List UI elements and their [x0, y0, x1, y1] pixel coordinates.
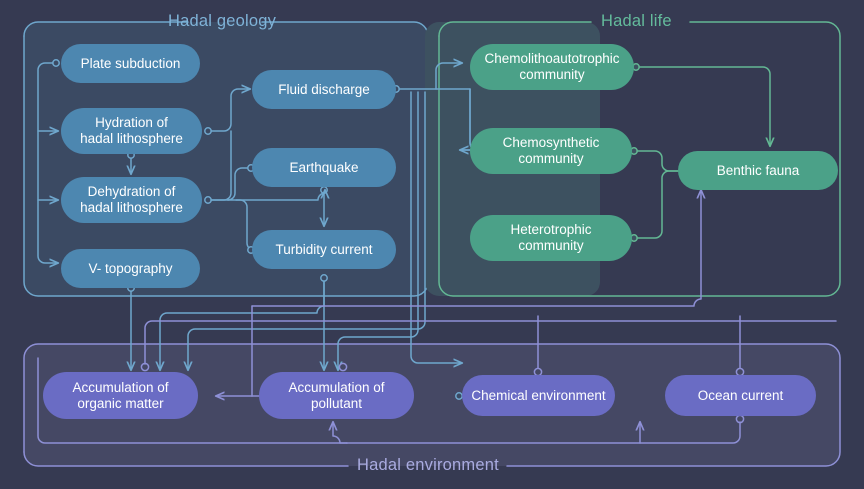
- node-label: Ocean current: [698, 388, 784, 404]
- panel-title-environment: Hadal environment: [357, 456, 499, 475]
- node-label: Dehydration ofhadal lithosphere: [80, 184, 183, 215]
- node-label: Turbidity current: [275, 242, 372, 258]
- panel-title-geology: Hadal geology: [168, 12, 276, 31]
- node-label: Chemical environment: [471, 388, 605, 404]
- node-chemosynthetic[interactable]: Chemosyntheticcommunity: [470, 128, 632, 174]
- node-label: Heterotrophiccommunity: [510, 222, 591, 253]
- node-label: Accumulation ofpollutant: [288, 380, 384, 411]
- node-dehydration[interactable]: Dehydration ofhadal lithosphere: [61, 177, 202, 223]
- node-plate-subduction[interactable]: Plate subduction: [61, 44, 200, 83]
- node-chemolithoautotrophic[interactable]: Chemolithoautotrophiccommunity: [470, 44, 634, 90]
- node-label: Chemolithoautotrophiccommunity: [484, 51, 619, 82]
- node-organic-matter[interactable]: Accumulation oforganic matter: [43, 372, 198, 419]
- node-label: Accumulation oforganic matter: [72, 380, 168, 411]
- node-heterotrophic[interactable]: Heterotrophiccommunity: [470, 215, 632, 261]
- node-ocean-current[interactable]: Ocean current: [665, 375, 816, 416]
- node-hydration[interactable]: Hydration ofhadal lithosphere: [61, 108, 202, 154]
- node-earthquake[interactable]: Earthquake: [252, 148, 396, 187]
- node-label: Chemosyntheticcommunity: [503, 135, 600, 166]
- node-label: Fluid discharge: [278, 82, 370, 98]
- node-label: Hydration ofhadal lithosphere: [80, 115, 183, 146]
- node-benthic-fauna[interactable]: Benthic fauna: [678, 151, 838, 190]
- node-label: V- topography: [88, 261, 172, 277]
- node-turbidity-current[interactable]: Turbidity current: [252, 230, 396, 269]
- node-chemical-environment[interactable]: Chemical environment: [462, 375, 615, 416]
- node-v-topography[interactable]: V- topography: [61, 249, 200, 288]
- edge-heterotrophic-to-benthic: [631, 171, 678, 241]
- edge-chemosynthetic-to-benthic: [631, 148, 678, 171]
- diagram-canvas: .wb{fill:none;stroke:#6fa7cd;stroke-widt…: [0, 0, 864, 489]
- node-pollutant[interactable]: Accumulation ofpollutant: [259, 372, 414, 419]
- panel-title-life: Hadal life: [601, 12, 672, 31]
- node-label: Earthquake: [289, 160, 358, 176]
- node-label: Plate subduction: [81, 56, 181, 72]
- node-label: Benthic fauna: [717, 163, 800, 179]
- node-fluid-discharge[interactable]: Fluid discharge: [252, 70, 396, 109]
- edge-chemolitho-to-benthic: [633, 64, 770, 146]
